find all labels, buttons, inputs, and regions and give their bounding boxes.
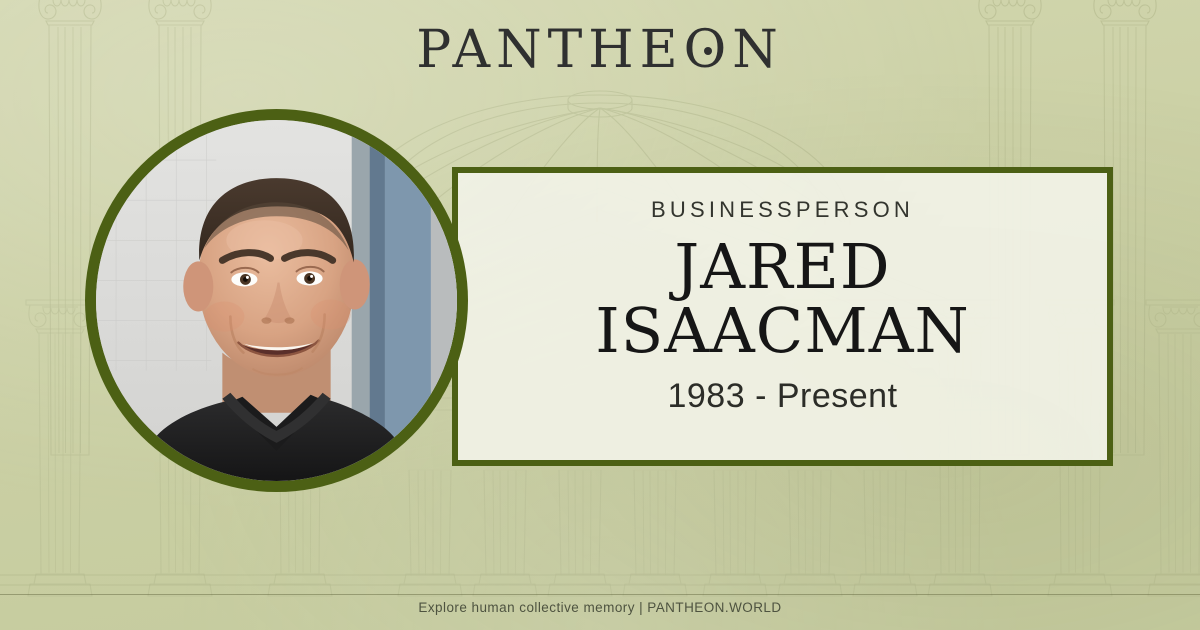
occupation-label: BUSINESSPERSON (651, 197, 914, 223)
life-span-label: 1983 - Present (667, 377, 897, 416)
person-last-name: ISAACMAN (468, 299, 1097, 363)
person-name: JARED ISAACMAN (458, 235, 1107, 363)
pantheon-profile-card: PANTHEON BUSINESSPERSON JARED ISAACMAN 1… (0, 0, 1200, 630)
footer-tagline: Explore human collective memory | PANTHE… (0, 600, 1200, 615)
person-info-card: BUSINESSPERSON JARED ISAACMAN 1983 - Pre… (452, 167, 1113, 466)
brand-title-part-2: N (732, 20, 784, 80)
brand-title-part-1: PANTHE (416, 20, 683, 80)
portrait-photo (96, 120, 457, 481)
person-first-name: JARED (468, 235, 1097, 299)
oculus-dot-icon (704, 47, 712, 55)
dotted-o-icon: O (684, 24, 733, 76)
page-title: PANTHEON (0, 24, 1200, 76)
footer-divider (0, 594, 1200, 595)
portrait-avatar (85, 109, 468, 492)
portrait-clip (96, 120, 457, 481)
